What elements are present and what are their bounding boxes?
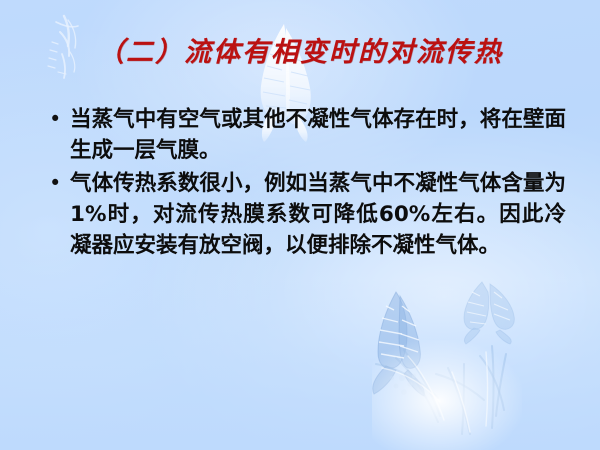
presentation-slide: （二）流体有相变时的对流传热 • 当蒸气中有空气或其他不凝性气体存在时，将在壁面… xyxy=(0,0,600,450)
bullet-text: 气体传热系数很小，例如当蒸气中不凝性气体含量为1%时，对流传热膜系数可降低60%… xyxy=(70,168,566,261)
list-item: • 当蒸气中有空气或其他不凝性气体存在时，将在壁面生成一层气膜。 xyxy=(44,104,576,166)
list-item: • 气体传热系数很小，例如当蒸气中不凝性气体含量为1%时，对流传热膜系数可降低6… xyxy=(44,168,576,261)
bullet-dot-icon: • xyxy=(44,104,70,135)
bullet-dot-icon: • xyxy=(44,168,70,199)
bullet-text: 当蒸气中有空气或其他不凝性气体存在时，将在壁面生成一层气膜。 xyxy=(70,104,566,166)
slide-title: （二）流体有相变时的对流传热 xyxy=(0,30,600,69)
bullet-list: • 当蒸气中有空气或其他不凝性气体存在时，将在壁面生成一层气膜。 • 气体传热系… xyxy=(44,104,576,263)
background-bottom-fade xyxy=(0,280,600,450)
